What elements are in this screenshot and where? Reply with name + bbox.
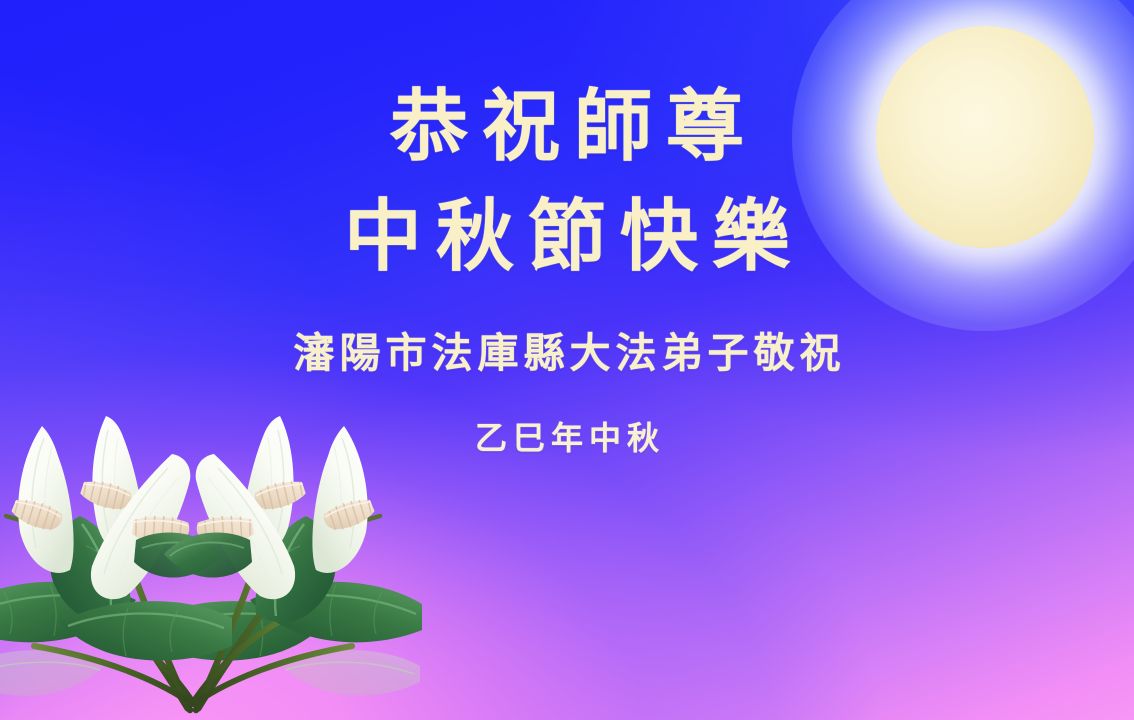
peace-lily-bouquet: [0, 408, 428, 720]
greeting-sender-line: 瀋陽市法庫縣大法弟子敬祝: [0, 333, 1134, 374]
greeting-card: 恭祝師尊 中秋節快樂 瀋陽市法庫縣大法弟子敬祝 乙巳年中秋: [0, 0, 1134, 720]
greeting-title-line-1: 恭祝師尊: [0, 88, 1134, 166]
greeting-title-line-2: 中秋節快樂: [0, 198, 1134, 276]
